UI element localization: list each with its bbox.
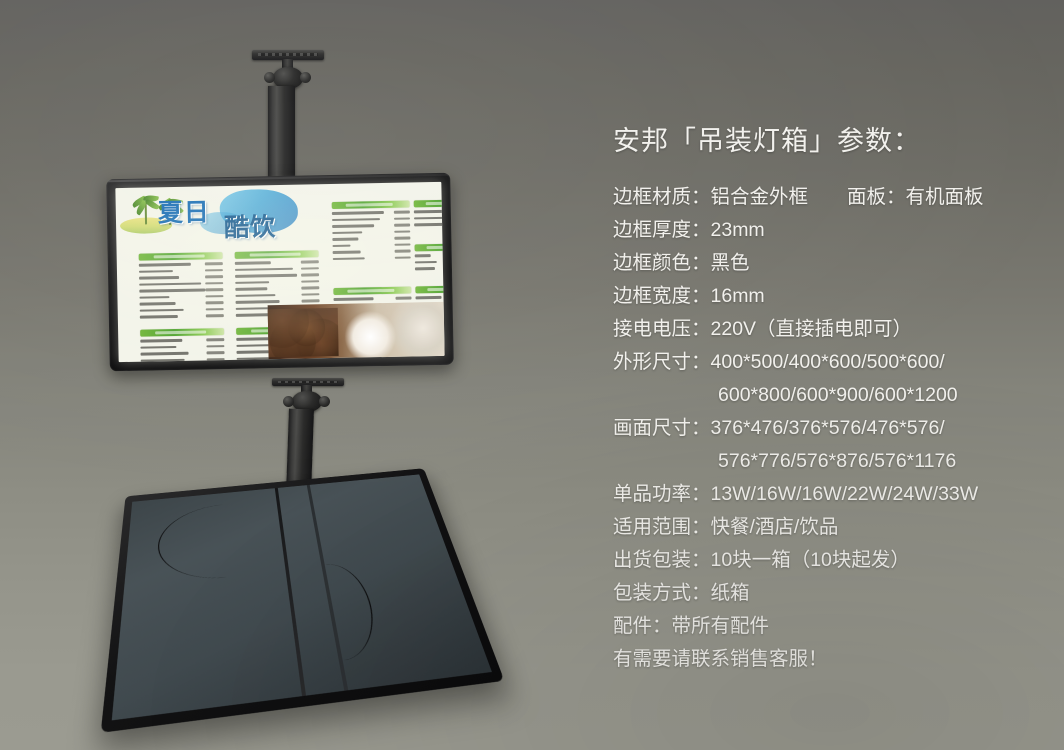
section-header [140,328,224,337]
menu-row [140,307,224,314]
product-photo-scene: 夏日 酷饮 [0,0,1064,750]
adjust-knob-icon [283,396,294,407]
spec-line: 出货包装：10块一箱（10块起发） [613,544,1043,577]
adjust-knob-icon [264,72,275,83]
menu-row [414,208,445,214]
section-rows [414,208,445,227]
section-rows [139,261,224,320]
menu-row [333,295,411,301]
menu-row [332,229,410,235]
mount-pole [268,86,295,182]
menu-row [332,209,410,215]
section-header [139,252,223,261]
spec-line: 600*800/600*900/600*1200 [613,379,1043,412]
adjust-knob-icon [319,396,330,407]
spec-line: 576*776/576*876/576*1176 [613,445,1043,478]
menu-row [332,242,410,248]
spec-line: 单品功率：13W/16W/16W/22W/24W/33W [613,478,1043,511]
menu-row [235,259,319,266]
menu-row [332,216,410,222]
menu-row [235,292,319,299]
hanging-lightbox-lit: 夏日 酷饮 [106,173,454,372]
menu-section [332,200,411,262]
menu-row [140,337,224,344]
menu-row [333,248,411,254]
plate-slots [278,381,339,383]
menu-row [139,294,223,301]
menu-row [414,221,445,227]
spec-title: 安邦「吊装灯箱」参数： [613,128,1043,155]
menu-row [414,215,445,221]
menu-row [235,279,319,286]
menu-section [139,252,224,321]
menu-row [140,344,224,351]
menu-poster: 夏日 酷饮 [115,182,444,362]
menu-row [141,350,225,357]
upper-ceiling-mount [252,50,324,182]
plate-slots [258,53,319,56]
adjust-knob-icon [300,72,311,83]
menu-row [415,265,445,271]
section-rows [415,252,445,271]
spec-line: 画面尺寸：376*476/376*576/476*576/ [613,412,1043,445]
spec-panel: 安邦「吊装灯箱」参数： 边框材质：铝合金外框 面板：有机面板 边框厚度：23mm… [613,128,1043,676]
menu-section [415,285,444,302]
section-header [332,200,410,208]
spec-line: 适用范围：快餐/酒店/饮品 [613,511,1043,544]
spec-line: 包装方式：纸箱 [613,577,1043,610]
menu-row [140,300,224,307]
spec-line: 边框厚度：23mm [613,214,1043,247]
spec-line: 有需要请联系销售客服！ [613,643,1043,676]
coffee-photo [268,302,445,359]
menu-row [415,252,445,258]
spec-line: 边框材质：铝合金外框 面板：有机面板 [613,181,1043,214]
section-header [414,243,444,251]
spec-line: 外形尺寸：400*500/400*600/500*600/ [613,346,1043,379]
menu-row [139,268,223,275]
menu-row [139,274,223,281]
menu-row [235,266,319,273]
menu-row [415,294,444,300]
menu-row [139,261,223,268]
menu-row [235,272,319,279]
spec-line: 接电电压：220V（直接插电即可） [613,313,1043,346]
menu-row [332,222,410,228]
section-header [333,286,411,294]
section-rows [140,337,225,362]
menu-row [235,285,319,292]
section-header [235,250,319,259]
menu-row [415,259,445,265]
spec-line: 配件：带所有配件 [613,610,1043,643]
spec-line: 边框颜色：黑色 [613,247,1043,280]
menu-section [414,199,445,229]
menu-row [332,235,410,241]
menu-row [140,313,224,320]
menu-section [414,243,444,273]
poster-hero-art: 夏日 酷饮 [115,184,325,242]
spec-line: 边框宽度：16mm [613,280,1043,313]
menu-row [139,281,223,288]
menu-row [139,287,223,294]
poster-title-line2: 酷饮 [224,215,276,241]
menu-row [333,255,411,261]
hanging-lightbox-unlit [101,468,505,733]
menu-section [140,328,225,362]
spec-line-list: 边框材质：铝合金外框 面板：有机面板 边框厚度：23mm 边框颜色：黑色 边框宽… [613,181,1043,676]
section-header [414,199,445,207]
coffee-beans-graphic [268,308,339,357]
section-rows [415,294,444,300]
section-header [415,285,444,293]
poster-title-line1: 夏日 [158,200,210,226]
section-rows [332,209,411,261]
